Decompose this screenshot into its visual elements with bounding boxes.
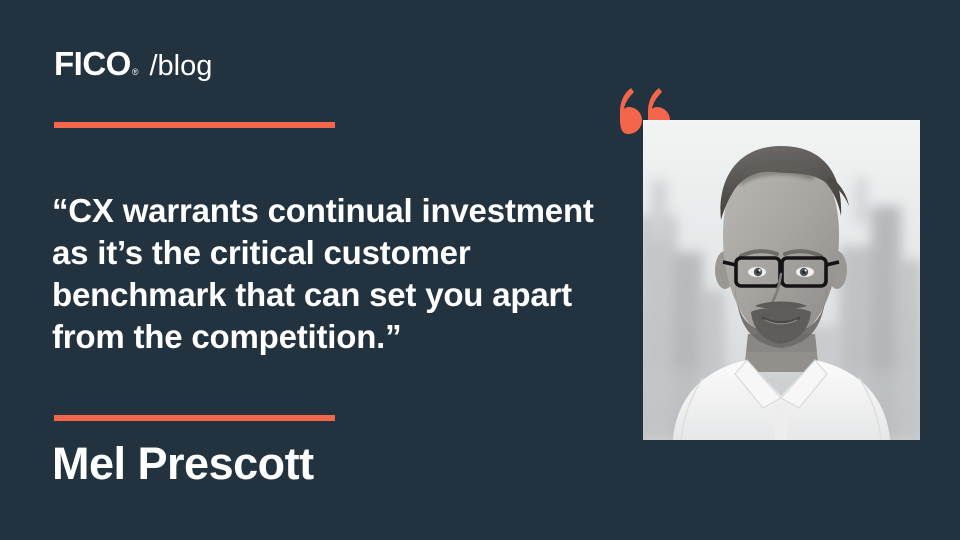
registered-trademark-icon: ® — [132, 68, 139, 77]
accent-rule-attribution — [54, 415, 335, 421]
author-name: Mel Prescott — [52, 441, 314, 486]
quote-text: “CX warrants continual investment as it’… — [52, 190, 632, 358]
blog-label: /blog — [149, 52, 212, 81]
quote-card: FICO ® /blog “CX warrants continual inve… — [0, 0, 960, 540]
accent-rule-top — [54, 122, 335, 128]
author-portrait-photo — [643, 120, 920, 440]
fico-wordmark: FICO — [54, 47, 131, 80]
fico-blog-logo[interactable]: FICO ® /blog — [54, 47, 212, 81]
